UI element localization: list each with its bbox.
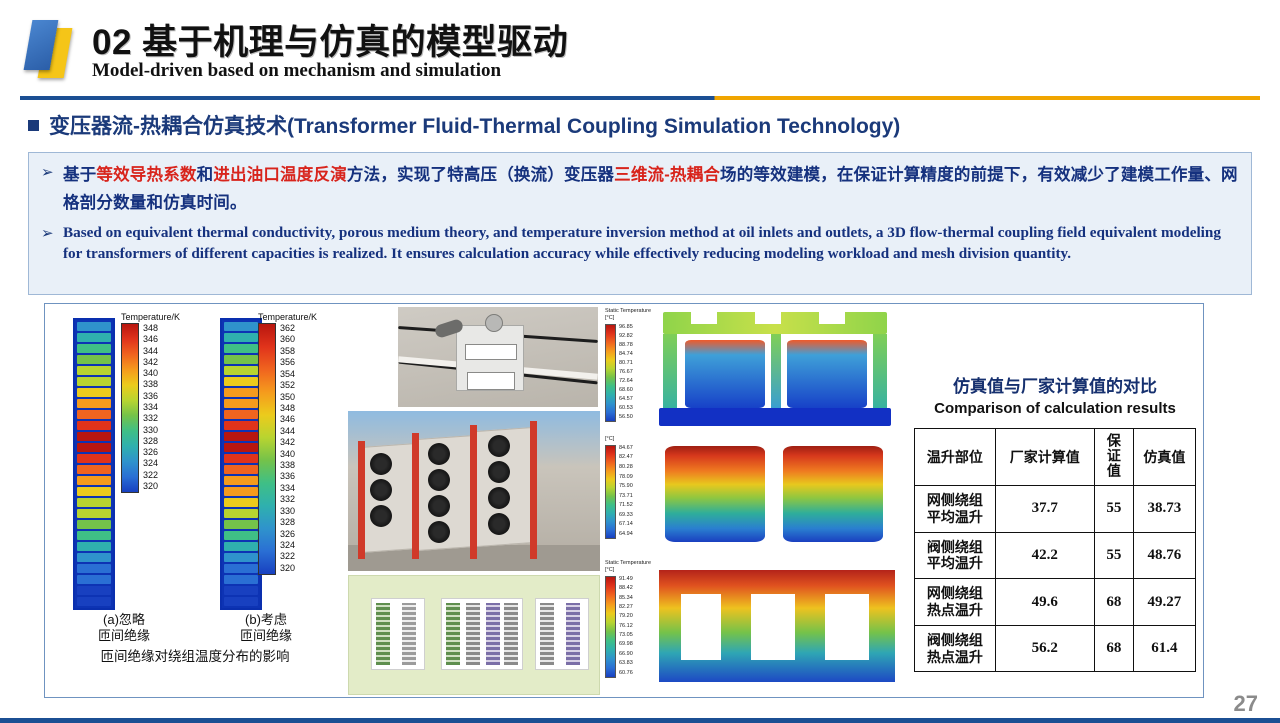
cfd-legend-top-strip	[605, 324, 616, 422]
colorbar-tick: 344	[143, 346, 158, 356]
cfd-coil-pair: [°C] 84.6782.4780.2878.0975.9073.7171.52…	[603, 434, 905, 558]
winding-segment	[77, 509, 111, 518]
colorbar-tick: 324	[280, 540, 295, 550]
cell-guarantee-value: 68	[1094, 579, 1133, 626]
cfd-core-assembly: Static Temperature [°C] 96.8592.8288.788…	[603, 306, 905, 434]
winding-segment	[77, 564, 111, 573]
winding-temperature-figures: Temperature/K 34834634434234033833633433…	[45, 304, 345, 697]
cfd-legend-mid-ticks: 84.6782.4780.2878.0975.9073.7171.5269.33…	[619, 445, 633, 537]
winding-3d-model-render	[348, 575, 600, 695]
colorbar-a-ticks: 3483463443423403383363343323303283263243…	[143, 323, 158, 491]
winding-segment	[224, 443, 258, 452]
cfd-legend-bottom-ticks: 91.4988.4285.3482.2779.2076.1273.0569.98…	[619, 576, 633, 676]
colorbar-tick: 338	[143, 379, 158, 389]
colorbar-tick: 342	[280, 437, 295, 447]
winding-segment	[77, 531, 111, 540]
winding-segment	[224, 465, 258, 474]
cell-part: 阀侧绕组平均温升	[915, 532, 996, 579]
colorbar-tick: 320	[143, 481, 158, 491]
winding-segment	[224, 432, 258, 441]
cfd-legend-tick: 69.98	[619, 641, 633, 647]
colorbar-tick: 334	[143, 402, 158, 412]
winding-segment	[224, 509, 258, 518]
winding-segment	[224, 564, 258, 573]
cfd-legend-tick: 66.90	[619, 651, 633, 657]
winding-segment	[77, 377, 111, 386]
colorbar-tick: 336	[143, 391, 158, 401]
winding-segment	[77, 586, 111, 595]
section-heading-label: 变压器流-热耦合仿真技术(Transformer Fluid-Thermal C…	[49, 110, 900, 140]
colorbar-a-title: Temperature/K	[121, 312, 180, 322]
colorbar-tick: 328	[143, 436, 158, 446]
cfd-legend-tick: 76.12	[619, 623, 633, 629]
winding-segment	[77, 443, 111, 452]
cfd-legend-tick: 85.34	[619, 595, 633, 601]
winding-segment	[224, 542, 258, 551]
cell-vendor-value: 56.2	[995, 625, 1094, 672]
winding-segment	[224, 498, 258, 507]
colorbar-b: Temperature/K 36236035835635435235034834…	[258, 312, 317, 575]
caption-b: (b)考虑 匝间绝缘	[218, 612, 314, 645]
winding-segment	[77, 575, 111, 584]
cfd-legend-tick: 63.83	[619, 660, 633, 666]
colorbar-tick: 322	[143, 470, 158, 480]
winding-segment	[224, 377, 258, 386]
colorbar-tick: 336	[280, 471, 295, 481]
winding-segment	[224, 399, 258, 408]
cell-part: 网侧绕组平均温升	[915, 486, 996, 533]
winding-segment	[77, 520, 111, 529]
winding-segment	[77, 366, 111, 375]
cfd-legend-tick: 96.85	[619, 324, 633, 330]
colorbar-tick: 362	[280, 323, 295, 333]
colorbar-tick: 320	[280, 563, 295, 573]
cell-vendor-value: 37.7	[995, 486, 1094, 533]
cfd-legend-top-title2: [°C]	[605, 315, 651, 322]
caption-a-line1: (a)忽略	[76, 612, 172, 628]
colorbar-b-ticks: 3623603583563543523503483463443423403383…	[280, 323, 295, 573]
caption-a-line2: 匝间绝缘	[76, 628, 172, 644]
winding-segment	[77, 454, 111, 463]
colorbar-tick: 328	[280, 517, 295, 527]
cfd-legend-tick: 68.60	[619, 387, 633, 393]
winding-segment	[224, 322, 258, 331]
colorbar-tick: 356	[280, 357, 295, 367]
cfd-legend-tick: 71.52	[619, 502, 633, 508]
winding-segment	[77, 542, 111, 551]
page-number: 27	[1234, 691, 1258, 717]
winding-segment	[224, 575, 258, 584]
colorbar-tick: 344	[280, 426, 295, 436]
cfd-legend-mid-strip	[605, 445, 616, 539]
bullet-cn-part-5: 三维流-热耦合	[614, 166, 720, 184]
cell-guarantee-value: 55	[1094, 486, 1133, 533]
colorbar-tick: 346	[280, 414, 295, 424]
cell-vendor-value: 42.2	[995, 532, 1094, 579]
winding-segment	[77, 322, 111, 331]
winding-segment	[77, 432, 111, 441]
cfd-legend-bottom-title2: [°C]	[605, 567, 651, 574]
cfd-legend-mid: [°C] 84.6782.4780.2878.0975.9073.7171.52…	[605, 436, 633, 539]
bullet-cn-part-1: 等效导热系数	[96, 166, 196, 184]
winding-segment	[77, 399, 111, 408]
page-title: 02 基于机理与仿真的模型驱动	[92, 14, 568, 65]
company-logo-icon	[24, 18, 80, 80]
colorbar-tick: 360	[280, 334, 295, 344]
slide-header: 02 基于机理与仿真的模型驱动 Model-driven based on me…	[0, 0, 1280, 96]
table-row: 阀侧绕组热点温升56.26861.4	[915, 625, 1196, 672]
cell-simulation-value: 49.27	[1133, 579, 1195, 626]
cfd-legend-bottom-title1: Static Temperature	[605, 560, 651, 567]
cfd-legend-tick: 60.53	[619, 405, 633, 411]
winding-segment	[224, 531, 258, 540]
section-heading: 变压器流-热耦合仿真技术(Transformer Fluid-Thermal C…	[28, 110, 900, 140]
colorbar-tick: 350	[280, 392, 295, 402]
colorbar-tick: 326	[143, 447, 158, 457]
winding-segment	[224, 586, 258, 595]
colorbar-tick: 332	[280, 494, 295, 504]
header-divider	[20, 96, 1260, 100]
cfd-legend-tick: 84.74	[619, 351, 633, 357]
cfd-legend-tick: 60.76	[619, 670, 633, 676]
bullet-cn-part-0: 基于	[63, 166, 96, 184]
colorbar-a: Temperature/K 34834634434234033833633433…	[121, 312, 180, 493]
winding-segment	[224, 344, 258, 353]
winding-segment	[224, 597, 258, 606]
table-row: 网侧绕组热点温升49.66849.27	[915, 579, 1196, 626]
colorbar-tick: 322	[280, 551, 295, 561]
winding-segment	[224, 520, 258, 529]
winding-segment	[77, 355, 111, 364]
colorbar-a-strip	[121, 323, 139, 493]
th-part: 温升部位	[915, 429, 996, 486]
cfd-legend-tick: 79.20	[619, 613, 633, 619]
colorbar-tick: 348	[143, 323, 158, 333]
cfd-legend-top-title1: Static Temperature	[605, 308, 651, 315]
figure-captions: (a)忽略 匝间绝缘 (b)考虑 匝间绝缘 匝间绝缘对绕组温度分布的影响	[45, 612, 345, 665]
colorbar-b-strip	[258, 323, 276, 575]
content-frame: Temperature/K 34834634434234033833633433…	[44, 303, 1204, 698]
cfd-legend-tick: 73.05	[619, 632, 633, 638]
cfd-legend-tick: 78.09	[619, 474, 633, 480]
cfd-legend-tick: 88.42	[619, 585, 633, 591]
summary-box: ➢ 基于等效导热系数和进出油口温度反演方法，实现了特高压（换流）变压器三维流-热…	[28, 152, 1252, 295]
winding-segment	[224, 454, 258, 463]
colorbar-tick: 330	[280, 506, 295, 516]
winding-segment	[224, 553, 258, 562]
photo-column	[348, 304, 600, 697]
cell-part: 网侧绕组热点温升	[915, 579, 996, 626]
cfd-legend-tick: 80.28	[619, 464, 633, 470]
winding-segment	[77, 487, 111, 496]
bullet-en: ➢ Based on equivalent thermal conductivi…	[29, 218, 1251, 265]
winding-map-a	[73, 318, 115, 610]
cfd-legend-tick: 69.33	[619, 512, 633, 518]
cfd-core-window-section: Static Temperature [°C] 91.4988.4285.348…	[603, 558, 905, 696]
colorbar-tick: 358	[280, 346, 295, 356]
cell-simulation-value: 48.76	[1133, 532, 1195, 579]
winding-segment	[77, 421, 111, 430]
cfd-legend-tick: 76.67	[619, 369, 633, 375]
colorbar-tick: 334	[280, 483, 295, 493]
winding-segment	[77, 410, 111, 419]
table-row: 阀侧绕组平均温升42.25548.76	[915, 532, 1196, 579]
fiber-optic-temperature-sensor-photo	[398, 307, 598, 407]
colorbar-tick: 340	[280, 449, 295, 459]
cfd-legend-top: Static Temperature [°C] 96.8592.8288.788…	[605, 308, 651, 422]
colorbar-tick: 342	[143, 357, 158, 367]
winding-segment	[224, 476, 258, 485]
winding-segment	[77, 498, 111, 507]
page-subtitle: Model-driven based on mechanism and simu…	[92, 60, 501, 82]
cell-vendor-value: 49.6	[995, 579, 1094, 626]
colorbar-tick: 352	[280, 380, 295, 390]
cfd-legend-tick: 91.49	[619, 576, 633, 582]
colorbar-tick: 354	[280, 369, 295, 379]
winding-segment	[77, 388, 111, 397]
caption-a: (a)忽略 匝间绝缘	[76, 612, 172, 645]
winding-map-b	[220, 318, 262, 610]
cell-simulation-value: 38.73	[1133, 486, 1195, 533]
cfd-legend-tick: 75.90	[619, 483, 633, 489]
colorbar-tick: 346	[143, 334, 158, 344]
caption-overall: 匝间绝缘对绕组温度分布的影响	[45, 649, 345, 666]
cfd-legend-bottom: Static Temperature [°C] 91.4988.4285.348…	[605, 560, 651, 678]
cfd-legend-mid-title1: [°C]	[605, 436, 633, 443]
cfd-legend-bottom-strip	[605, 576, 616, 678]
colorbar-tick: 326	[280, 529, 295, 539]
bullet-cn-part-4: 方法，实现了特高压（换流）变压器	[347, 166, 614, 184]
cfd-results-column: Static Temperature [°C] 96.8592.8288.788…	[603, 304, 905, 697]
cfd-legend-tick: 88.78	[619, 342, 633, 348]
caption-b-line2: 匝间绝缘	[218, 628, 314, 644]
winding-segment	[224, 388, 258, 397]
winding-segment	[77, 344, 111, 353]
bullet-cn: ➢ 基于等效导热系数和进出油口温度反演方法，实现了特高压（换流）变压器三维流-热…	[29, 153, 1251, 218]
colorbar-tick: 324	[143, 458, 158, 468]
bullet-cn-part-2: 和	[197, 166, 214, 184]
cfd-legend-tick: 67.14	[619, 521, 633, 527]
winding-segment	[224, 366, 258, 375]
winding-segment	[224, 355, 258, 364]
cfd-legend-tick: 56.50	[619, 414, 633, 420]
th-sim: 仿真值	[1133, 429, 1195, 486]
winding-segment	[77, 465, 111, 474]
cfd-legend-tick: 80.71	[619, 360, 633, 366]
winding-segment	[224, 487, 258, 496]
arrow-bullet-icon: ➢	[41, 222, 63, 265]
cell-simulation-value: 61.4	[1133, 625, 1195, 672]
winding-segment	[77, 553, 111, 562]
cell-part: 阀侧绕组热点温升	[915, 625, 996, 672]
bullet-cn-part-3: 进出油口温度反演	[213, 166, 347, 184]
square-bullet-icon	[28, 120, 39, 131]
colorbar-tick: 332	[143, 413, 158, 423]
cfd-legend-tick: 82.27	[619, 604, 633, 610]
footer-bar	[0, 718, 1280, 723]
caption-b-line1: (b)考虑	[218, 612, 314, 628]
bullet-en-text: Based on equivalent thermal conductivity…	[63, 222, 1239, 265]
winding-segment	[224, 421, 258, 430]
cfd-legend-top-ticks: 96.8592.8288.7884.7480.7176.6772.6468.60…	[619, 324, 633, 420]
cfd-legend-tick: 92.82	[619, 333, 633, 339]
winding-segment	[224, 410, 258, 419]
th-vendor: 厂家计算值	[995, 429, 1094, 486]
slide: 02 基于机理与仿真的模型驱动 Model-driven based on me…	[0, 0, 1280, 723]
cfd-legend-tick: 84.67	[619, 445, 633, 451]
cell-guarantee-value: 68	[1094, 625, 1133, 672]
cfd-legend-tick: 72.64	[619, 378, 633, 384]
colorbar-tick: 340	[143, 368, 158, 378]
table-row: 网侧绕组平均温升37.75538.73	[915, 486, 1196, 533]
bullet-cn-text: 基于等效导热系数和进出油口温度反演方法，实现了特高压（换流）变压器三维流-热耦合…	[63, 161, 1239, 218]
comparison-panel: 仿真值与厂家计算值的对比 Comparison of calculation r…	[907, 304, 1203, 697]
colorbar-b-title: Temperature/K	[258, 312, 317, 322]
cell-guarantee-value: 55	[1094, 532, 1133, 579]
cfd-legend-tick: 82.47	[619, 454, 633, 460]
winding-segment	[77, 333, 111, 342]
sensor-body-icon	[456, 325, 524, 391]
colorbar-tick: 330	[143, 425, 158, 435]
winding-segment	[77, 597, 111, 606]
table-title-en: Comparison of calculation results	[907, 400, 1203, 417]
winding-segment	[77, 476, 111, 485]
cfd-legend-tick: 64.57	[619, 396, 633, 402]
table-header-row: 温升部位 厂家计算值 保证值 仿真值	[915, 429, 1196, 486]
table-title-cn: 仿真值与厂家计算值的对比	[907, 372, 1203, 397]
cfd-legend-tick: 64.94	[619, 531, 633, 537]
winding-segment	[224, 333, 258, 342]
th-guarantee: 保证值	[1094, 429, 1133, 486]
transformer-cooler-fan-bank-photo	[348, 411, 600, 571]
arrow-bullet-icon: ➢	[41, 161, 63, 218]
comparison-table: 温升部位 厂家计算值 保证值 仿真值 网侧绕组平均温升37.75538.73阀侧…	[914, 428, 1196, 672]
colorbar-tick: 348	[280, 403, 295, 413]
colorbar-tick: 338	[280, 460, 295, 470]
cfd-legend-tick: 73.71	[619, 493, 633, 499]
